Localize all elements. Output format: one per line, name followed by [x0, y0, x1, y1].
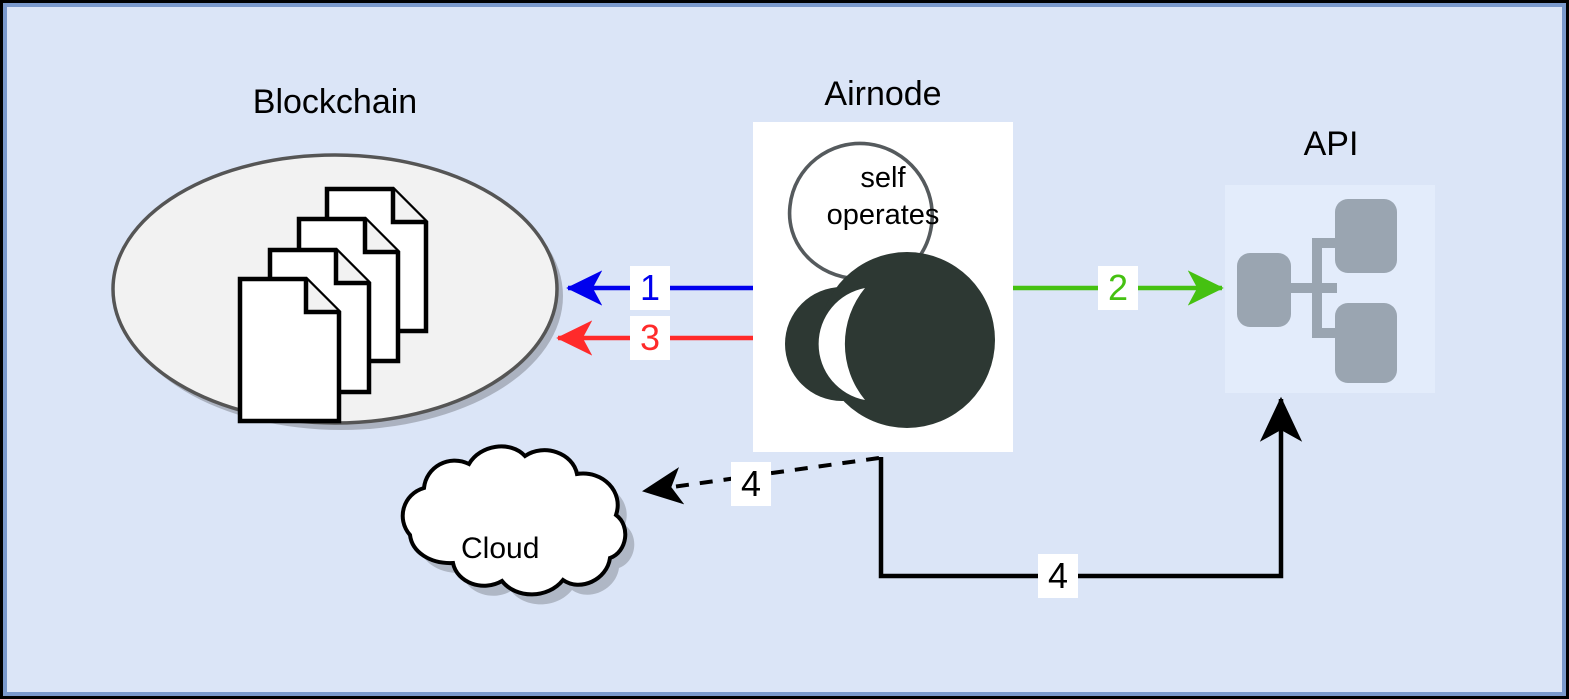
diagram-canvas: self operates Blockchain Airnode API Clo…: [0, 0, 1569, 699]
diagram-stage: self operates Blockchain Airnode API Clo…: [7, 7, 1562, 692]
airnode-title: Airnode: [755, 77, 1011, 111]
api-node-box-left: [1237, 253, 1291, 327]
api-hierarchy-icon: [1225, 185, 1435, 393]
edge-label-1[interactable]: 1: [630, 266, 670, 310]
cloud-shape[interactable]: [403, 446, 626, 594]
self-operates-label: self operates: [753, 160, 1013, 234]
api3-logo-icon: [785, 252, 995, 428]
api-node-box-top: [1335, 199, 1397, 273]
edge-label-2[interactable]: 2: [1098, 266, 1138, 310]
edge-label-4-cloud[interactable]: 4: [731, 462, 771, 506]
api-node[interactable]: [1225, 185, 1435, 393]
api-node-box-bottom: [1335, 303, 1397, 383]
api-title: API: [1251, 127, 1411, 161]
document-page: [240, 279, 339, 421]
edge-label-3[interactable]: 3: [630, 316, 670, 360]
edge-label-4-api[interactable]: 4: [1038, 554, 1078, 598]
blockchain-title: Blockchain: [207, 85, 463, 119]
airnode-node[interactable]: self operates: [753, 122, 1013, 452]
cloud-title: Cloud: [461, 532, 539, 566]
